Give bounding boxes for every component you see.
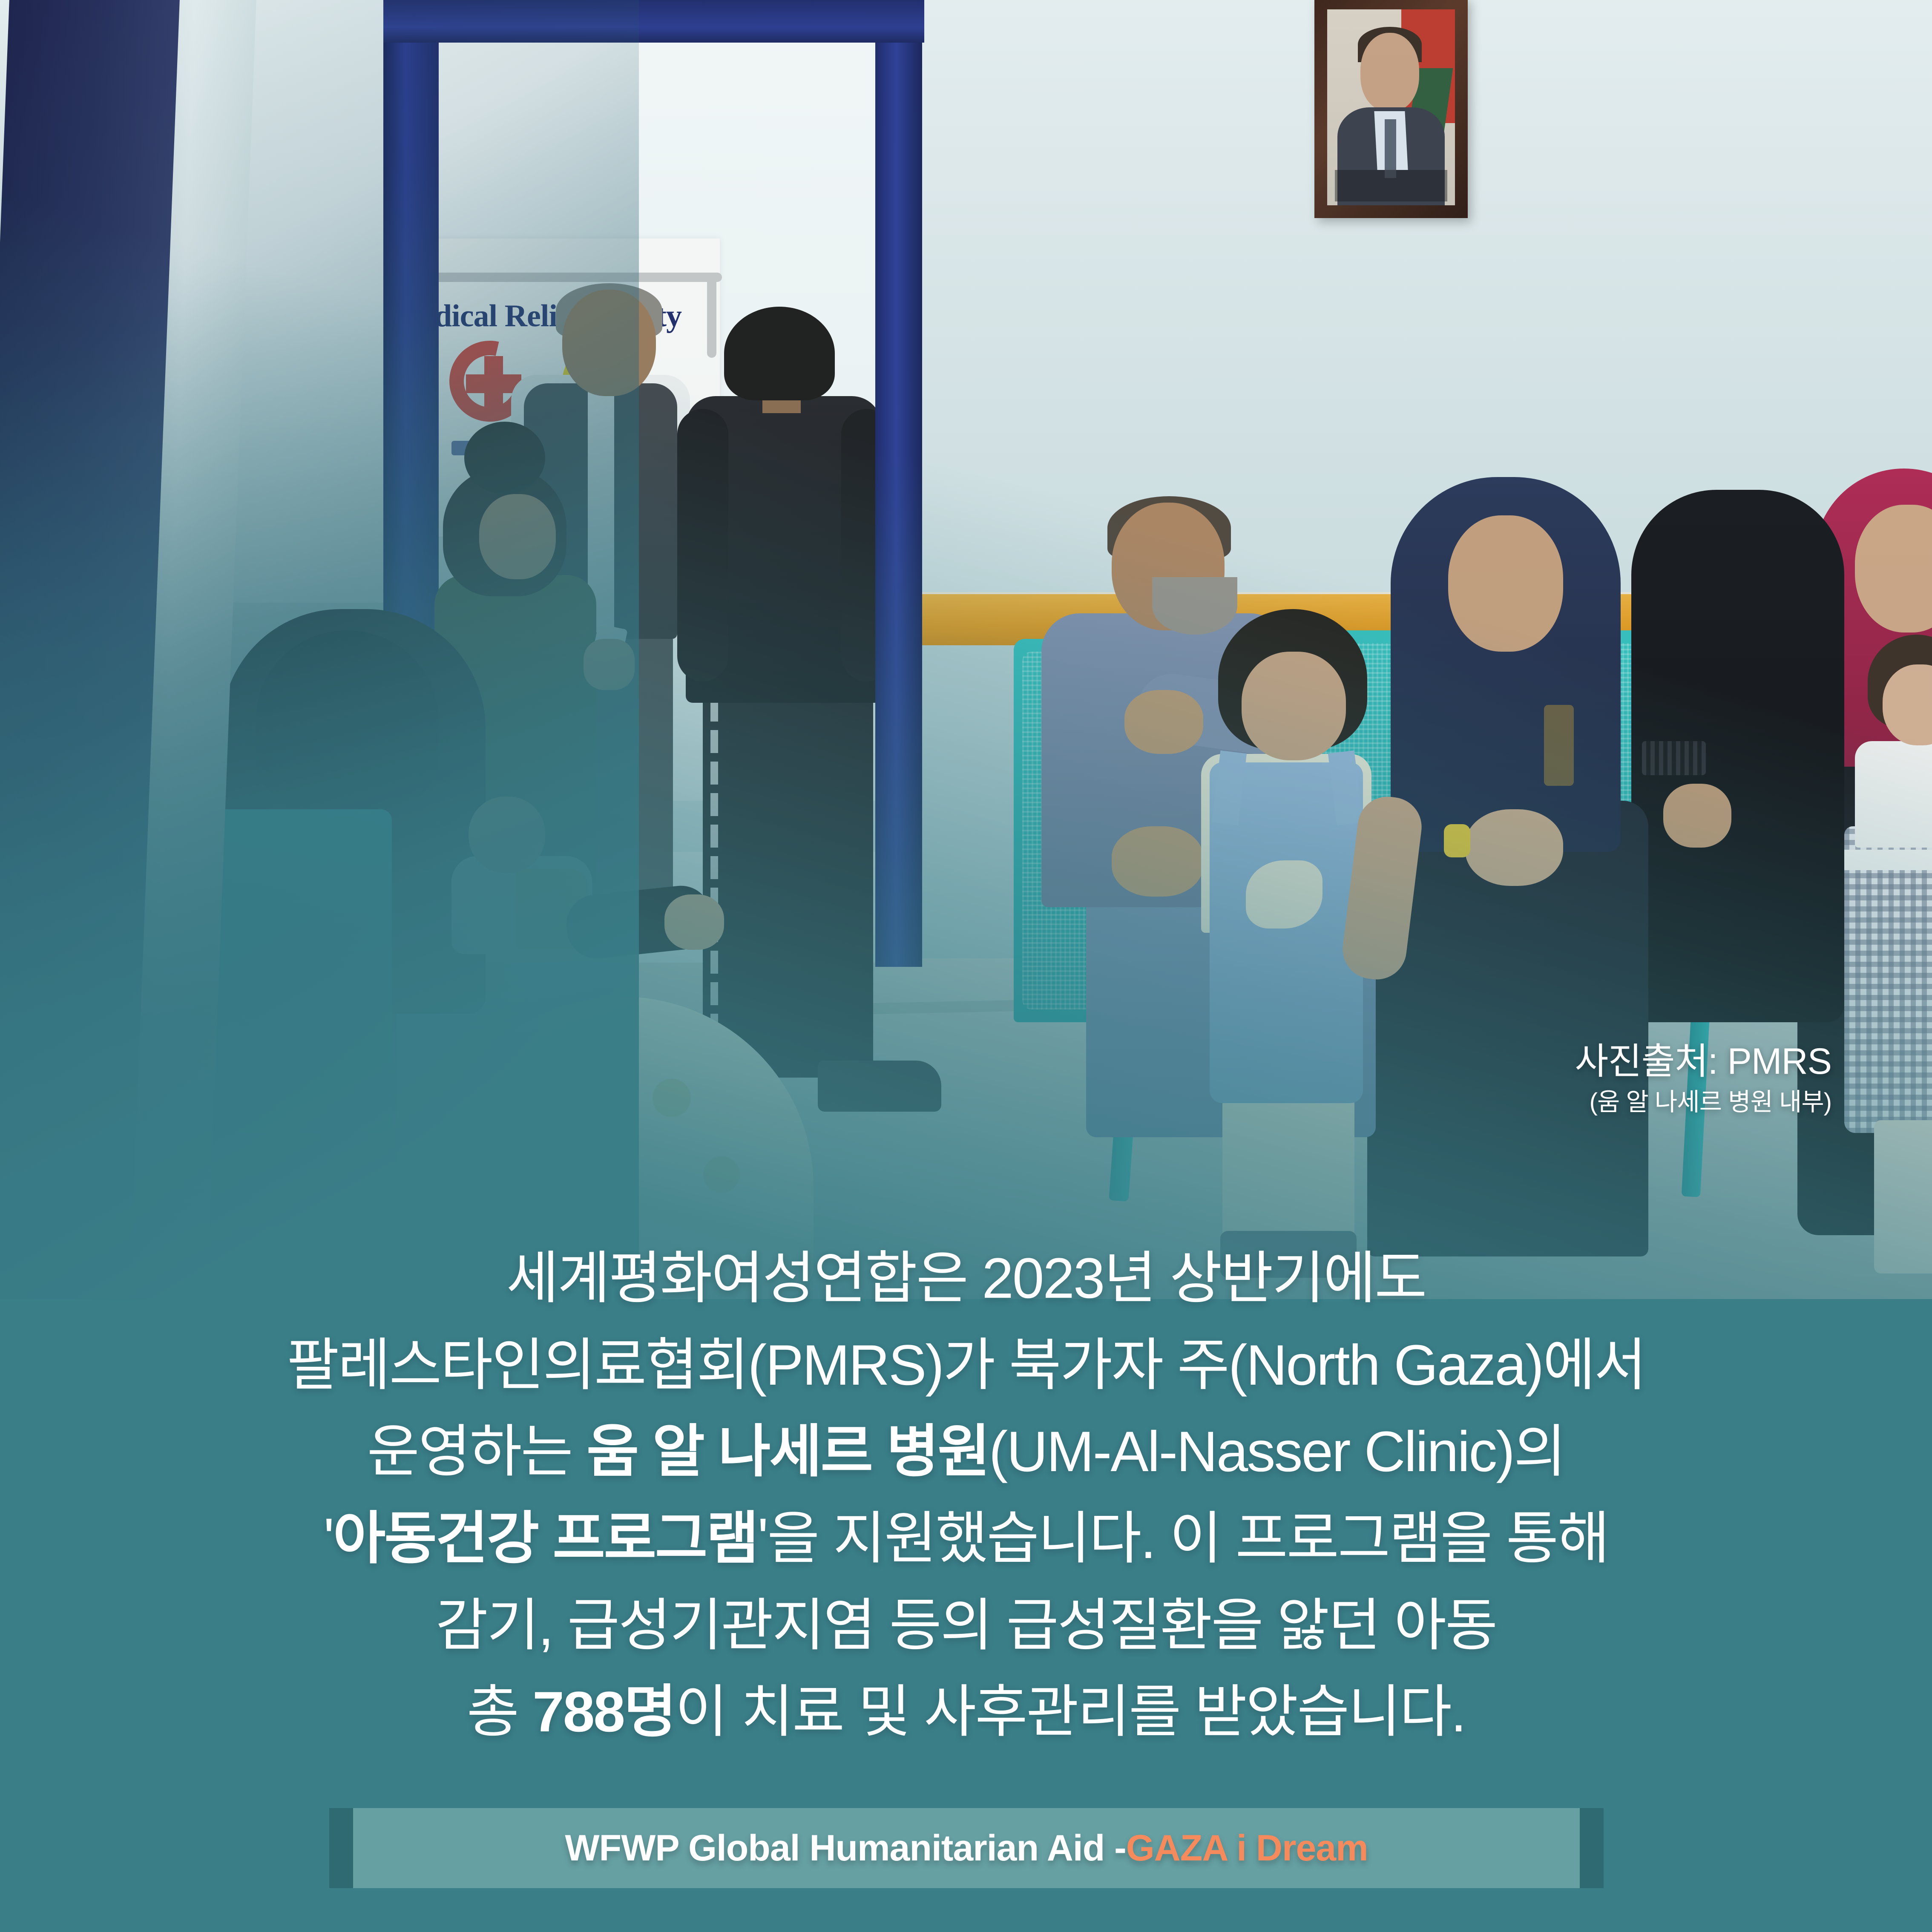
footer-banner-text: WFWP Global Humanitarian Aid - GAZA i Dr… [353,1808,1580,1888]
hands [1465,809,1563,886]
overall-patch [1246,860,1322,929]
face [479,494,556,579]
caption-line-4-a: ' [323,1507,333,1570]
caption-line-4: '아동건강 프로그램'을 지원했습니다. 이 프로그램을 통해 [0,1495,1932,1582]
portrait-photo [1327,9,1455,205]
top [1855,741,1932,848]
dress [1844,826,1932,1133]
bangle [1444,824,1470,857]
face [1242,652,1346,760]
hair [724,307,835,400]
arm-left [677,409,728,681]
photo-credit-location: (움 알 나세르 병원 내부) [1575,1087,1831,1117]
brooch [1544,705,1574,786]
caption-line-1: 세계평화여성연합은 2023년 상반기에도 [0,1235,1932,1322]
hand [1663,784,1731,848]
caption-beneficiary-count: 788명 [532,1680,675,1744]
wall-upper [0,0,1932,605]
trackpants [703,694,873,1078]
footer-banner-accent-text: GAZA i Dream [1126,1827,1368,1869]
beard [1152,577,1237,635]
caption-line-6-a: 총 [467,1680,533,1744]
belt [1844,850,1932,870]
caption-line-6: 총 788명이 치료 및 사후관리를 받았습니다. [0,1669,1932,1756]
face [1448,515,1563,652]
photo-credit-source: 사진출처: PMRS [1575,1042,1831,1081]
hair-bun [464,422,545,494]
hand [584,639,635,690]
chair-back-left [213,809,392,1133]
baby-head [469,796,545,873]
poster-rail-horizontal [432,273,722,282]
caption-line-3: 운영하는 움 알 나세르 병원(UM-Al-Nasser Clinic)의 [0,1409,1932,1495]
caption-line-3-c: (UM-Al-Nasser Clinic)의 [989,1420,1565,1483]
caption-line-4-c: '을 지원했습니다. 이 프로그램을 통해 [758,1507,1609,1570]
caption-clinic-name: 움 알 나세르 병원 [586,1420,989,1483]
infographic-card: dical Relief Society [0,0,1932,1932]
hand-lower [1112,826,1203,897]
footer-banner-main-text: WFWP Global Humanitarian Aid - [565,1827,1126,1869]
hand [664,894,724,950]
caption-program-name: 아동건강 프로그램 [333,1507,757,1570]
door-frame-right [875,0,922,967]
caption-line-5: 감기, 급성기관지염 등의 급성질환을 앓던 아동 [0,1582,1932,1669]
portrait-tie [1385,119,1396,178]
caption-line-3-a: 운영하는 [367,1420,586,1483]
shoe [818,1061,941,1112]
photo-credit: 사진출처: PMRS (움 알 나세르 병원 내부) [1575,1042,1831,1117]
portrait-head [1360,33,1419,111]
framed-portrait [1314,0,1468,218]
head [562,290,656,396]
footer-banner: WFWP Global Humanitarian Aid - GAZA i Dr… [329,1808,1604,1888]
caption-body: 세계평화여성연합은 2023년 상반기에도 팔레스타인의료협회(PMRS)가 북… [0,1235,1932,1756]
clinic-waiting-room-photo: dical Relief Society [0,0,1932,1329]
hand-upper [1124,690,1203,754]
sleeve-trim [1642,741,1706,775]
caption-line-6-c: 이 치료 및 사후관리를 받았습니다. [675,1680,1465,1744]
portrait-caption-band [1335,170,1447,201]
caption-line-2: 팔레스타인의료협회(PMRS)가 북가자 주(North Gaza)에서 [0,1322,1932,1409]
niqab-face-cover [256,630,439,809]
trackpants-stripe [710,699,718,1073]
door-frame-top [383,0,924,43]
